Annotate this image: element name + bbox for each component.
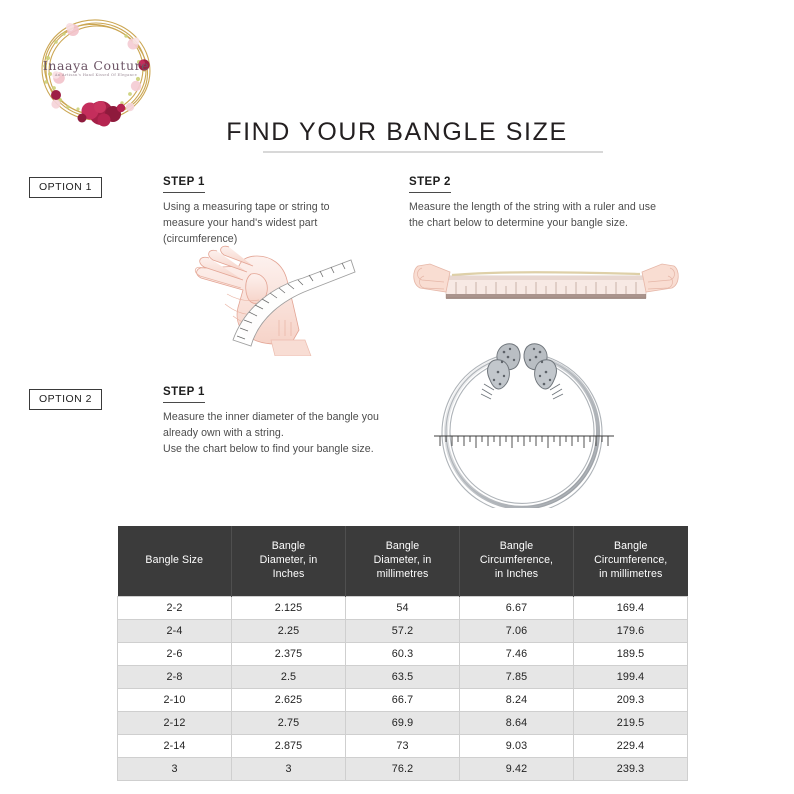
table-cell: 69.9 xyxy=(346,711,460,734)
header-line: Bangle Size xyxy=(121,553,229,567)
table-cell: 60.3 xyxy=(346,642,460,665)
option-1-step-2-body: Measure the length of the string with a … xyxy=(409,199,671,231)
table-cell: 2.5 xyxy=(232,665,346,688)
table-row: 2-102.62566.78.24209.3 xyxy=(118,688,688,711)
table-cell: 2-4 xyxy=(118,619,232,642)
table-cell: 2.375 xyxy=(232,642,346,665)
table-header: Bangle Size Bangle Diameter, in Inches B… xyxy=(118,526,688,596)
table-cell: 8.24 xyxy=(460,688,574,711)
table-cell: 2.125 xyxy=(232,596,346,619)
option-1-step-2-heading: STEP 2 xyxy=(409,176,451,193)
table-row: 2-142.875739.03229.4 xyxy=(118,734,688,757)
column-header-diameter-mm: Bangle Diameter, in millimetres xyxy=(346,526,460,596)
brand-tagline: An Artisan's Hand Kissed Of Elegance xyxy=(26,73,166,77)
table-header-row: Bangle Size Bangle Diameter, in Inches B… xyxy=(118,526,688,596)
hands-holding-ruler-icon xyxy=(412,250,680,316)
header-line: Diameter, in xyxy=(349,553,456,567)
table-cell: 8.64 xyxy=(460,711,574,734)
title-divider xyxy=(263,151,603,153)
table-row: 3376.29.42239.3 xyxy=(118,757,688,780)
header-line: Bangle xyxy=(463,539,570,553)
table-cell: 7.06 xyxy=(460,619,574,642)
column-header-bangle-size: Bangle Size xyxy=(118,526,232,596)
table-cell: 6.67 xyxy=(460,596,574,619)
option-2-step-1-line-2: Use the chart below to find your bangle … xyxy=(163,441,403,457)
header-line: in Inches xyxy=(463,567,570,581)
option-1-badge: OPTION 1 xyxy=(29,177,102,198)
table-body: 2-22.125546.67169.42-42.2557.27.06179.62… xyxy=(118,596,688,780)
silver-bangle-with-ruler-icon xyxy=(424,336,616,508)
table-cell: 2-10 xyxy=(118,688,232,711)
table-cell: 189.5 xyxy=(574,642,688,665)
table-cell: 239.3 xyxy=(574,757,688,780)
table-cell: 3 xyxy=(118,757,232,780)
table-cell: 2.25 xyxy=(232,619,346,642)
header-line: Bangle xyxy=(349,539,456,553)
header-line: Bangle xyxy=(235,539,342,553)
table-cell: 199.4 xyxy=(574,665,688,688)
option-2-step-1-body: Measure the inner diameter of the bangle… xyxy=(163,409,403,457)
table-cell: 2.75 xyxy=(232,711,346,734)
brand-logo: Inaaya Couture An Artisan's Hand Kissed … xyxy=(26,8,166,133)
table-row: 2-42.2557.27.06179.6 xyxy=(118,619,688,642)
table-cell: 219.5 xyxy=(574,711,688,734)
header-line: Bangle xyxy=(577,539,685,553)
table-cell: 169.4 xyxy=(574,596,688,619)
table-cell: 2-14 xyxy=(118,734,232,757)
page-title: FIND YOUR BANGLE SIZE xyxy=(0,118,794,147)
column-header-diameter-inches: Bangle Diameter, in Inches xyxy=(232,526,346,596)
table-cell: 2-6 xyxy=(118,642,232,665)
column-header-circumference-inches: Bangle Circumference, in Inches xyxy=(460,526,574,596)
header-line: millimetres xyxy=(349,567,456,581)
table-cell: 209.3 xyxy=(574,688,688,711)
header-line: Circumference, xyxy=(463,553,570,567)
bangle-size-table: Bangle Size Bangle Diameter, in Inches B… xyxy=(117,526,688,781)
table-cell: 229.4 xyxy=(574,734,688,757)
option-2-badge: OPTION 2 xyxy=(29,389,102,410)
table-cell: 76.2 xyxy=(346,757,460,780)
table-cell: 2-8 xyxy=(118,665,232,688)
table-cell: 7.85 xyxy=(460,665,574,688)
table-cell: 9.03 xyxy=(460,734,574,757)
table-cell: 54 xyxy=(346,596,460,619)
hand-with-measuring-tape-icon xyxy=(183,244,358,356)
table-cell: 2-2 xyxy=(118,596,232,619)
header-line: Inches xyxy=(235,567,342,581)
table-row: 2-62.37560.37.46189.5 xyxy=(118,642,688,665)
table-cell: 63.5 xyxy=(346,665,460,688)
table-cell: 7.46 xyxy=(460,642,574,665)
option-1-step-1-heading: STEP 1 xyxy=(163,176,205,193)
column-header-circumference-mm: Bangle Circumference, in millimetres xyxy=(574,526,688,596)
brand-name: Inaaya Couture xyxy=(26,58,166,73)
table-cell: 2.875 xyxy=(232,734,346,757)
option-2-step-1-line-1: Measure the inner diameter of the bangle… xyxy=(163,409,403,441)
header-line: Circumference, xyxy=(577,553,685,567)
table-row: 2-22.125546.67169.4 xyxy=(118,596,688,619)
table-cell: 2-12 xyxy=(118,711,232,734)
table-cell: 2.625 xyxy=(232,688,346,711)
option-1-step-1-body: Using a measuring tape or string to meas… xyxy=(163,199,358,247)
header-line: in millimetres xyxy=(577,567,685,581)
table-row: 2-82.563.57.85199.4 xyxy=(118,665,688,688)
table-cell: 66.7 xyxy=(346,688,460,711)
table-cell: 57.2 xyxy=(346,619,460,642)
table-cell: 3 xyxy=(232,757,346,780)
table-cell: 9.42 xyxy=(460,757,574,780)
header-line: Diameter, in xyxy=(235,553,342,567)
table-cell: 73 xyxy=(346,734,460,757)
table-cell: 179.6 xyxy=(574,619,688,642)
option-2-step-1-heading: STEP 1 xyxy=(163,386,205,403)
table-row: 2-122.7569.98.64219.5 xyxy=(118,711,688,734)
